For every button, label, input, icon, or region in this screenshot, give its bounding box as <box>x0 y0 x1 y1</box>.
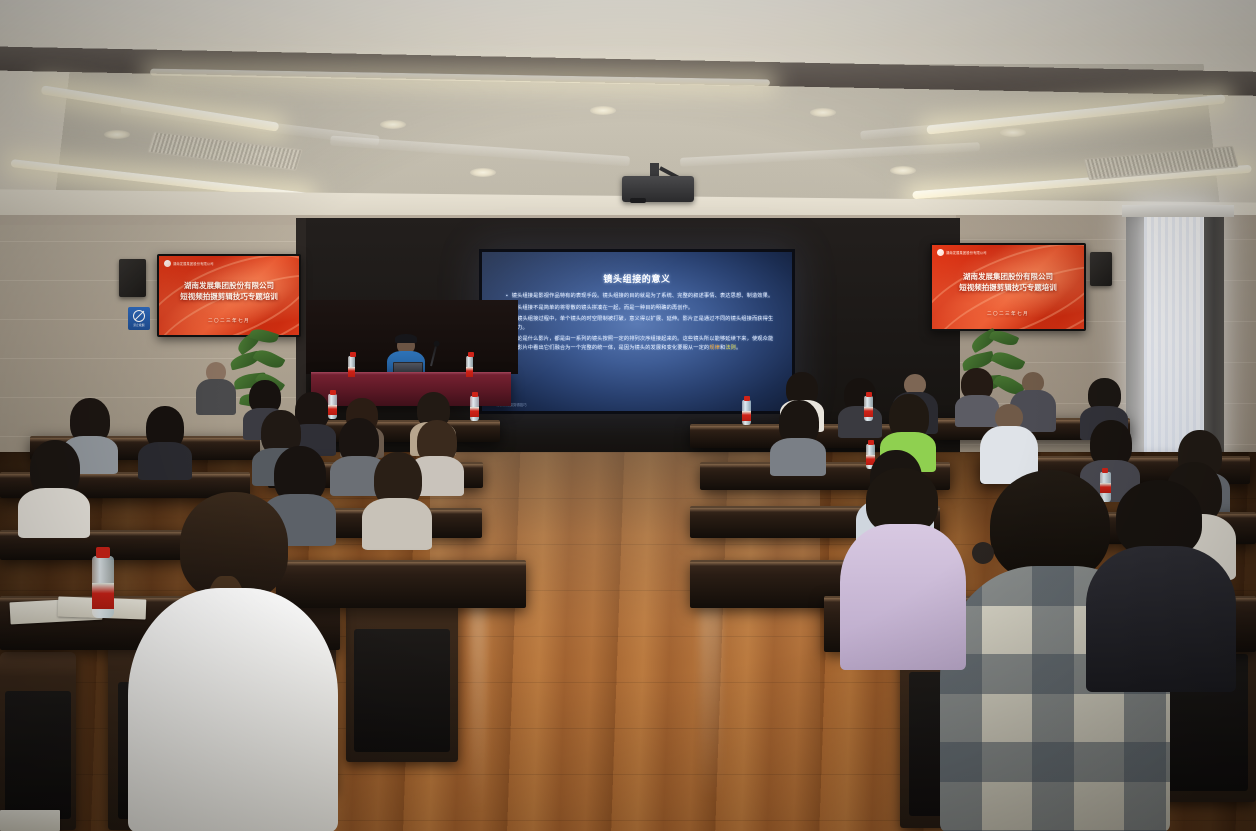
banner-line-1: 湖南发展集团股份有限公司 <box>163 281 295 292</box>
logo-text: 湖南发展集团股份有限公司 <box>946 250 987 255</box>
downlight <box>470 168 496 177</box>
water-bottle <box>864 396 873 421</box>
conference-room-scene: 湖南发展集团股份有限公司 湖南发展集团股份有限公司 短视频拍摄剪辑技巧专题培训 … <box>0 0 1256 831</box>
bottle-label <box>470 407 479 417</box>
bottle-cap <box>350 352 356 357</box>
attendee-body <box>196 379 236 415</box>
slide-bullet: ▪ 镜头组接是影视作品特有的表现手段。镜头组接的目的就是为了系统、完整的叙述事情… <box>506 292 776 301</box>
wall-speaker <box>1090 252 1112 286</box>
bottle-label <box>466 367 473 377</box>
bottle-cap <box>866 392 872 397</box>
attendee-body <box>138 442 192 480</box>
no-smoking-sign: 禁止吸烟 <box>128 307 150 330</box>
slide-bullet-text: 镜头组接是影视作品特有的表现手段。镜头组接的目的就是为了系统、完整的叙述事情、表… <box>512 292 776 301</box>
downlight <box>810 108 836 117</box>
slide-surface: 镜头组接的意义 ▪ 镜头组接是影视作品特有的表现手段。镜头组接的目的就是为了系统… <box>482 252 792 411</box>
attendee <box>196 362 236 414</box>
no-smoking-label: 禁止吸烟 <box>133 323 144 327</box>
slide-highlight-yellow: 法则 <box>725 345 736 351</box>
bottle-cap <box>472 392 478 397</box>
slide-bullet-period: 。 <box>736 345 741 351</box>
water-bottle <box>328 394 337 419</box>
banner-date: 二〇二三年七月 <box>932 311 1084 317</box>
banner-title: 湖南发展集团股份有限公司 短视频拍摄剪辑技巧专题培训 <box>932 272 1084 294</box>
slide-bullet: ▪ 无论是什么影片，都是由一系列的镜头按照一定的排列次序组接起来的。这些镜头所以… <box>506 335 776 352</box>
eyeglasses-icon <box>972 542 994 564</box>
bottle-label <box>328 405 337 415</box>
chair-backrest <box>5 691 70 819</box>
logo-mark-icon <box>164 260 171 267</box>
attendee-body <box>18 488 90 538</box>
company-logo: 湖南发展集团股份有限公司 <box>937 249 987 256</box>
attendee <box>838 378 882 436</box>
chair <box>346 592 458 762</box>
slide-body: ▪ 镜头组接是影视作品特有的表现手段。镜头组接的目的就是为了系统、完整的叙述事情… <box>506 292 776 355</box>
attendee-body <box>1086 546 1236 692</box>
attendee <box>770 400 826 474</box>
no-smoking-icon <box>133 310 145 322</box>
presenter-cap-icon <box>395 334 417 343</box>
attendee <box>18 440 90 536</box>
bottle-cap <box>744 396 750 401</box>
plant-leaf <box>989 327 1019 349</box>
company-logo: 湖南发展集团股份有限公司 <box>164 260 214 267</box>
attendee-body <box>838 406 882 438</box>
bottle-label <box>864 407 873 417</box>
banner-line-2: 短视频拍摄剪辑技巧专题培训 <box>936 283 1080 294</box>
water-bottle <box>470 396 479 421</box>
downlight <box>590 106 616 115</box>
paper-sheet <box>0 810 60 831</box>
slide-bullet-text: 无论是什么影片，都是由一系列的镜头按照一定的排列次序组接起来的。这些镜头所以能够… <box>512 335 776 352</box>
table-edge <box>311 372 511 375</box>
banner-line-1: 湖南发展集团股份有限公司 <box>936 272 1080 283</box>
led-display-right[interactable]: 湖南发展集团股份有限公司 湖南发展集团股份有限公司 短视频拍摄剪辑技巧专题培训 … <box>930 243 1086 331</box>
water-bottle <box>348 356 355 376</box>
attendee <box>840 468 966 668</box>
water-bottle <box>466 356 473 376</box>
slide-bullet: ▪ 镜头组接不是简单的将零散的镜头拼凑在一起，而是一种目的明确的再创作。 <box>506 304 776 313</box>
bottle-cap <box>468 352 474 357</box>
banner-title: 湖南发展集团股份有限公司 短视频拍摄剪辑技巧专题培训 <box>159 281 299 303</box>
led-display-left[interactable]: 湖南发展集团股份有限公司 湖南发展集团股份有限公司 短视频拍摄剪辑技巧专题培训 … <box>157 254 301 337</box>
slide-bullet-text: 在镜头组接过程中，单个镜头的时空限制被打破，意义得以扩展、延伸。影片正是通过不同… <box>512 315 776 332</box>
bottle-label <box>348 367 355 377</box>
chair-backrest <box>354 629 450 751</box>
downlight <box>890 166 916 175</box>
attendee-body <box>128 588 338 831</box>
slide-bullet-text: 镜头组接不是简单的将零散的镜头拼凑在一起，而是一种目的明确的再创作。 <box>512 304 776 313</box>
bottle-cap <box>868 440 874 445</box>
slide-highlight-orange: 规律 <box>709 345 720 351</box>
plant-leaf <box>252 346 285 372</box>
banner-line-2: 短视频拍摄剪辑技巧专题培训 <box>163 292 295 303</box>
projector-lens <box>630 198 646 203</box>
slide-title: 镜头组接的意义 <box>482 272 792 285</box>
chair <box>0 652 76 830</box>
logo-text: 湖南发展集团股份有限公司 <box>173 261 214 266</box>
water-bottle <box>92 556 114 618</box>
bottle-label <box>92 583 114 609</box>
bottle-label <box>742 411 751 421</box>
led-display-left-screen: 湖南发展集团股份有限公司 湖南发展集团股份有限公司 短视频拍摄剪辑技巧专题培训 … <box>159 256 299 335</box>
water-bottle <box>742 400 751 425</box>
bottle-cap <box>330 390 336 395</box>
attendee-body <box>840 524 966 670</box>
downlight <box>380 120 406 129</box>
ceiling-soffit <box>0 0 1256 46</box>
curtain-header <box>1122 205 1234 217</box>
attendee <box>1086 480 1236 690</box>
slide-bullet: ▪ 在镜头组接过程中，单个镜头的时空限制被打破，意义得以扩展、延伸。影片正是通过… <box>506 315 776 332</box>
wall-speaker <box>119 259 146 297</box>
banner-date: 二〇二三年七月 <box>159 318 299 324</box>
attendee-foreground-left <box>128 492 338 831</box>
attendee-body <box>362 498 432 550</box>
projection-screen: 镜头组接的意义 ▪ 镜头组接是影视作品特有的表现手段。镜头组接的目的就是为了系统… <box>479 249 795 414</box>
downlight <box>104 130 130 139</box>
bottle-cap <box>96 547 110 558</box>
floor-light-reflection <box>470 582 486 812</box>
attendee <box>138 406 192 478</box>
led-display-right-screen: 湖南发展集团股份有限公司 湖南发展集团股份有限公司 短视频拍摄剪辑技巧专题培训 … <box>932 245 1084 329</box>
attendee-body <box>770 438 826 476</box>
logo-mark-icon <box>937 249 944 256</box>
downlight <box>1000 128 1026 137</box>
attendee <box>362 452 432 548</box>
